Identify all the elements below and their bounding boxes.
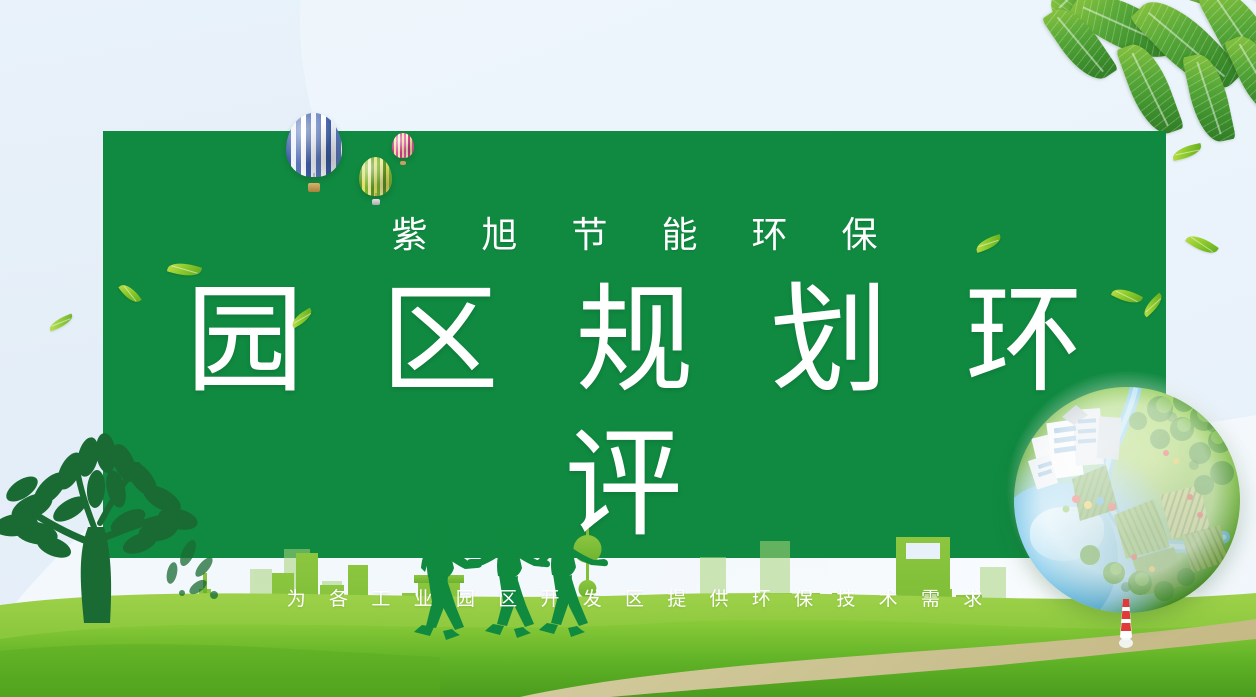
balloon-blue-white bbox=[286, 113, 342, 191]
poster-canvas: 紫 旭 节 能 环 保 园 区 规 划 环 评 为 各 工 业 园 区 开 发 … bbox=[0, 0, 1256, 697]
globe-sphere bbox=[1014, 387, 1240, 613]
brand-subtitle: 紫 旭 节 能 环 保 bbox=[103, 213, 1166, 256]
balloon-pink bbox=[392, 133, 414, 164]
lighthouse-icon bbox=[1118, 599, 1134, 651]
balloon-green-yellow bbox=[359, 157, 392, 204]
eco-globe-illustration bbox=[992, 381, 1256, 671]
